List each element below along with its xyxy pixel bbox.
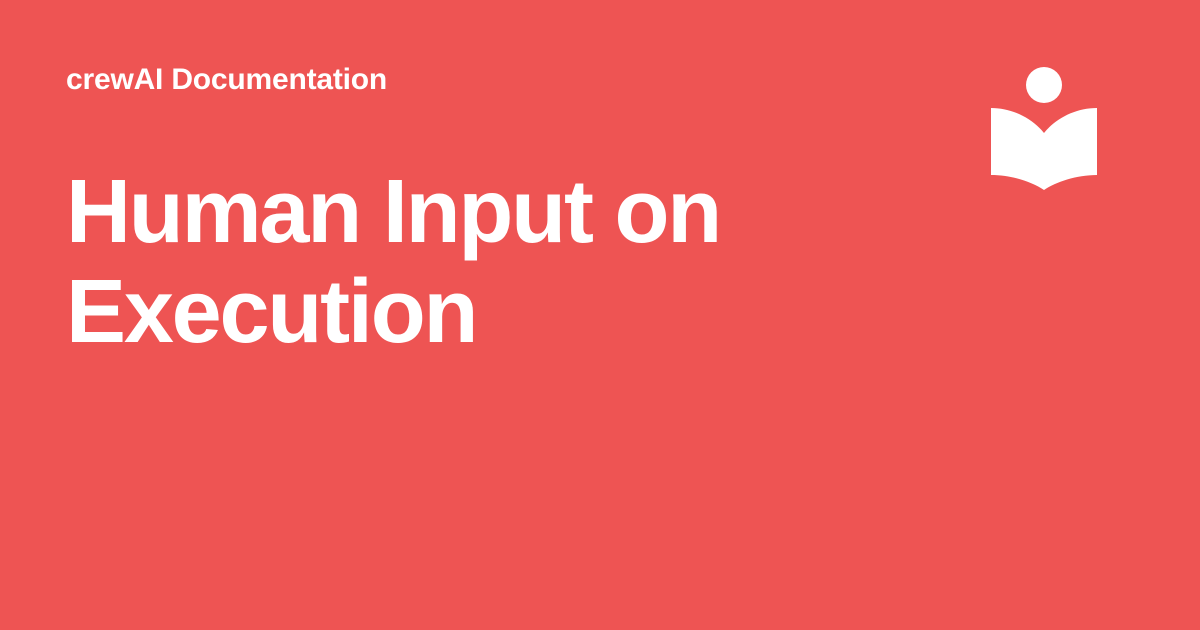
site-name: crewAI Documentation [66,60,886,100]
open-book-reader-icon [986,62,1102,194]
card-content: crewAI Documentation Human Input on Exec… [66,60,886,362]
page-title: Human Input on Execution [66,162,766,362]
og-card: crewAI Documentation Human Input on Exec… [0,0,1200,630]
reader-head-shape [1026,67,1062,103]
open-book-shape [991,108,1097,190]
